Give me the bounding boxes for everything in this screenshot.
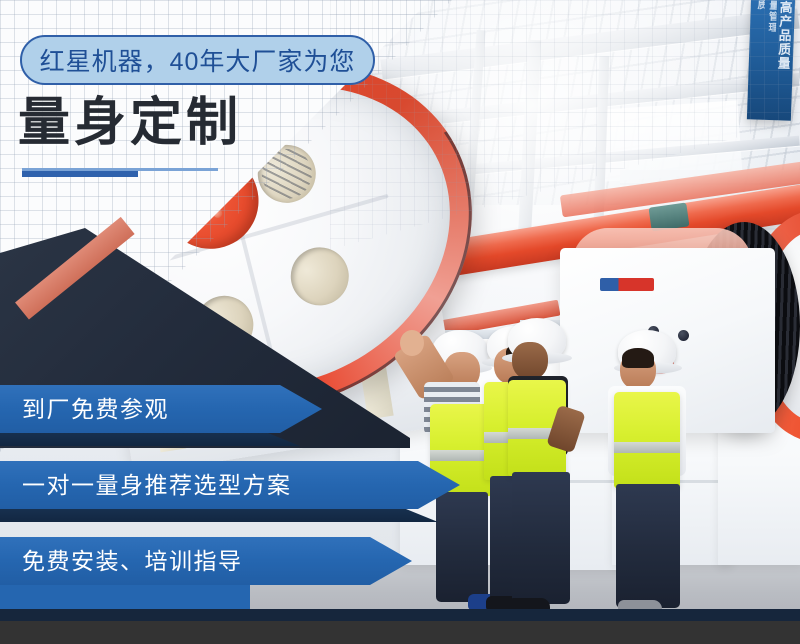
feature-bar-1-shadow [0, 433, 300, 446]
feature-bar-2-shadow [0, 509, 438, 522]
brand-logo-plate [600, 278, 654, 291]
crusher-knob [678, 330, 689, 341]
bottom-blue-fill [0, 585, 250, 609]
worker-head [512, 342, 548, 380]
tagline-badge-text: 红星机器，40年大厂家为您 [40, 42, 356, 78]
feature-bar-2-label: 一对一量身推荐选型方案 [22, 461, 292, 509]
worker-legs [616, 484, 680, 608]
vest-reflective-band [430, 450, 492, 461]
bottom-dark-strip [0, 621, 800, 644]
worker-hair [622, 348, 654, 368]
page-title: 量身定制 [18, 97, 242, 149]
safety-vest [614, 392, 680, 488]
bottom-navy-strip [0, 609, 800, 621]
vest-reflective-band [614, 442, 680, 453]
feature-bar-3-label: 免费安装、培训指导 [22, 537, 243, 585]
worker-legs [436, 492, 488, 602]
tagline-badge[interactable]: 红星机器，40年大厂家为您 [20, 35, 375, 85]
worker-hand [400, 330, 424, 356]
worker-legs [512, 472, 570, 604]
banner-root: 质 量管理 高产品质量 红星机器，40年大厂家为您 量身定制 到厂免费参观 一对… [0, 0, 800, 644]
feature-bar-1-label: 到厂免费参观 [22, 385, 169, 433]
title-underline-thick [22, 171, 138, 177]
